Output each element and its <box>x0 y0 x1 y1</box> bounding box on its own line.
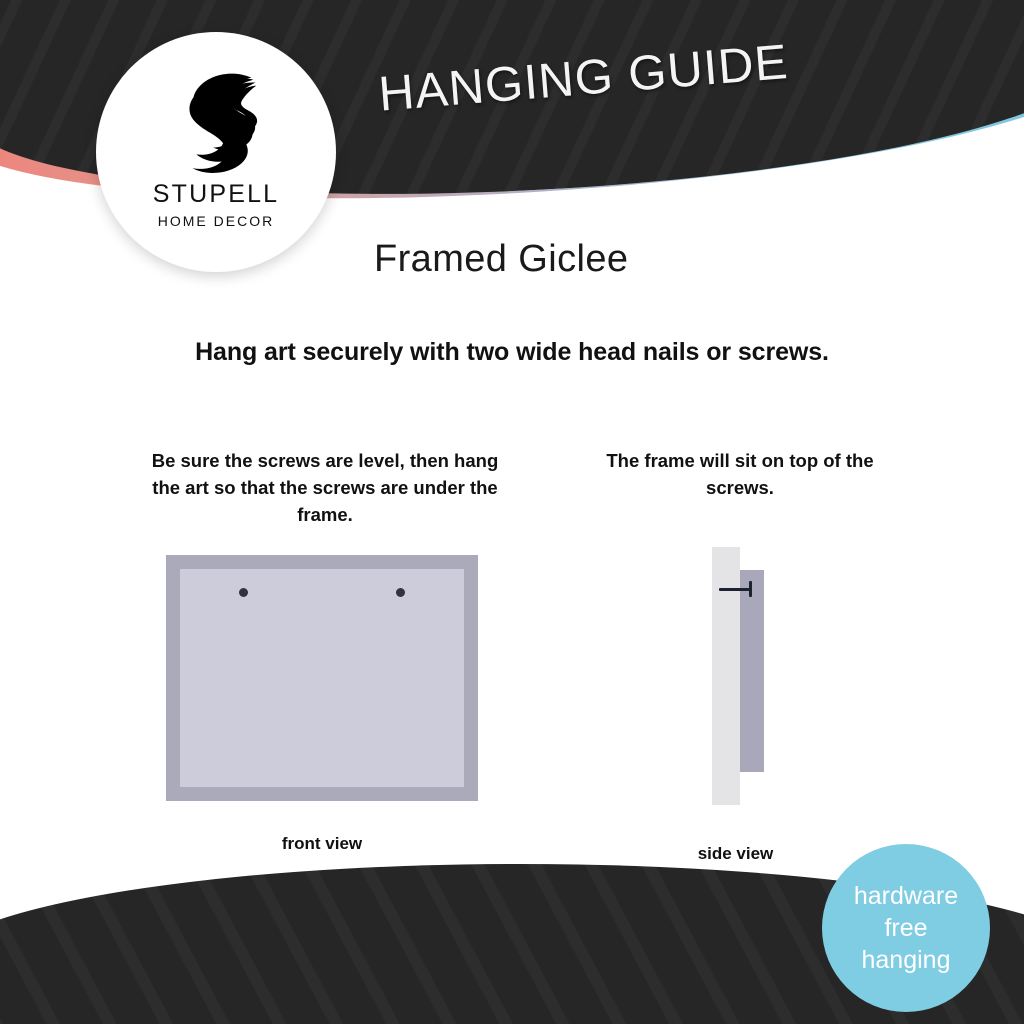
side-view-caption: The frame will sit on top of the screws. <box>590 448 890 502</box>
stupell-swoosh-icon <box>157 60 275 178</box>
logo-brand-subtitle: HOME DECOR <box>158 213 274 229</box>
nail-head-icon <box>749 581 752 597</box>
nail-shaft-icon <box>719 588 752 591</box>
screw-dot-right-icon <box>396 588 405 597</box>
badge-line-3: hanging <box>862 944 951 976</box>
badge-line-1: hardware <box>854 880 958 912</box>
product-type-label: Framed Giclee <box>374 238 628 281</box>
hanging-guide-page: HANGING GUIDE STUPELL HOME DECOR Framed … <box>0 0 1024 1024</box>
logo-brand-name: STUPELL <box>153 180 280 209</box>
hardware-free-badge: hardware free hanging <box>822 844 990 1012</box>
screw-dot-left-icon <box>239 588 248 597</box>
front-view-caption: Be sure the screws are level, then hang … <box>150 448 500 528</box>
front-view-label: front view <box>172 834 472 854</box>
badge-line-2: free <box>884 912 927 944</box>
front-view-art-panel <box>180 569 464 787</box>
side-view-label: side view <box>648 844 823 864</box>
brand-logo-badge: STUPELL HOME DECOR <box>96 32 336 272</box>
side-view-wall <box>712 547 740 805</box>
side-view-frame <box>740 570 764 772</box>
main-instruction-text: Hang art securely with two wide head nai… <box>0 338 1024 367</box>
front-view-frame-diagram <box>166 555 478 801</box>
